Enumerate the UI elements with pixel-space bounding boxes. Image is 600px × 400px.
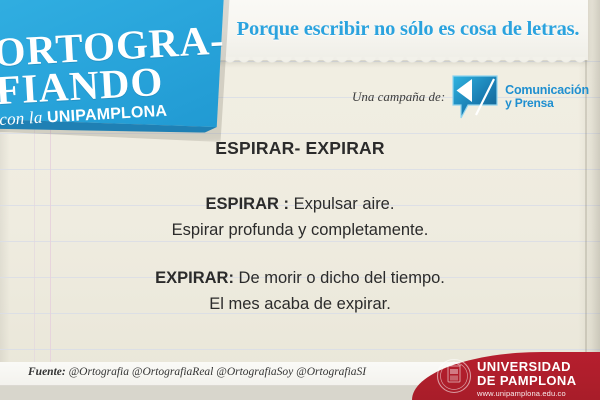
university-url: www.unipamplona.edu.co [477,390,577,398]
main-content: ESPIRAR- EXPIRAR ESPIRAR : Expulsar aire… [60,138,540,317]
definition-line-1: ESPIRAR : Expulsar aire. [60,191,540,217]
speech-bubble-arrow-icon [452,75,498,119]
example-espirar: Espirar profunda y completamente. [60,217,540,243]
university-line1: UNIVERSIDAD [477,360,577,374]
university-name: UNIVERSIDAD DE PAMPLONA www.unipamplona.… [477,360,577,397]
term-expirar: EXPIRAR: [155,269,234,287]
content-spacer [60,243,540,265]
brand-logo: ORTOGRA- FIANDO con la UNIPAMPLONA [0,0,234,145]
definition-expirar: De morir o dicho del tiempo. [234,269,445,287]
term-espirar: ESPIRAR : [206,195,289,213]
campaign-credit: Una campaña de: Comunicación y Pren [352,74,588,120]
source-label: Fuente: [28,366,66,378]
university-crest-icon [436,358,472,394]
source-handles: @Ortografia @OrtografiaReal @OrtografiaS… [69,366,367,378]
source-credit: Fuente: @Ortografia @OrtografiaReal @Ort… [28,366,366,378]
university-footer: UNIVERSIDAD DE PAMPLONA www.unipamplona.… [412,352,600,400]
tagline: Porque escribir no sólo es cosa de letra… [232,18,584,41]
campaign-label: Una campaña de: [352,89,445,105]
campaign-name-line2: y Prensa [505,97,589,110]
university-line2: DE PAMPLONA [477,374,577,388]
entry-title: ESPIRAR- EXPIRAR [60,138,540,159]
brand-logo-subtitle-italic: con la [0,108,43,129]
definition-espirar: Expulsar aire. [289,195,394,213]
example-expirar: El mes acaba de expirar. [60,291,540,317]
brand-logo-subtitle-bold: UNIPAMPLONA [47,103,168,127]
definition-line-2: EXPIRAR: De morir o dicho del tiempo. [60,265,540,291]
campaign-logo-name: Comunicación y Prensa [505,84,589,110]
poster-canvas: ORTOGRA- FIANDO con la UNIPAMPLONA Porqu… [0,0,600,400]
